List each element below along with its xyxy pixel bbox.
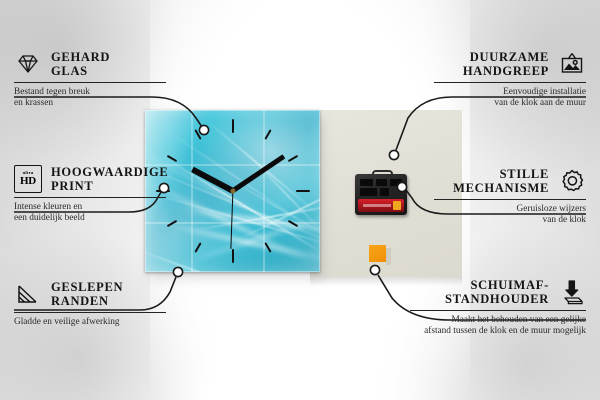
feature-description: Geruisloze wijzers van de klok xyxy=(434,204,586,227)
feature-head: DUURZAME HANDGREEP xyxy=(434,50,586,78)
stamp-down-arrow-icon xyxy=(558,278,586,306)
feature-divider xyxy=(410,310,586,311)
feature-divider xyxy=(14,197,166,198)
ultra-hd-icon: ultra HD xyxy=(14,165,42,193)
leader-dot-stille-mechanisme xyxy=(397,182,406,191)
feature-duurzame-handgreep: DUURZAME HANDGREEP Eenvoudige installati… xyxy=(434,50,586,110)
feature-head: SCHUIMAF- STANDHOUDER xyxy=(410,278,586,306)
feature-hoogwaardige-print: ultra HD HOOGWAARDIGE PRINT Intense kleu… xyxy=(14,165,166,225)
feature-title: DUURZAME HANDGREEP xyxy=(463,50,549,78)
feature-description: Intense kleuren en een duidelijk beeld xyxy=(14,202,166,225)
gear-icon xyxy=(558,167,586,195)
feature-title: STILLE MECHANISME xyxy=(453,167,549,195)
leader-dot-schuimaf-standhouder xyxy=(370,265,379,274)
feature-head: ultra HD HOOGWAARDIGE PRINT xyxy=(14,165,166,193)
feature-schuimaf-standhouder: SCHUIMAF- STANDHOUDER Maakt het behouden… xyxy=(410,278,586,338)
feature-divider xyxy=(434,82,586,83)
diagonal-lines-icon xyxy=(14,280,42,308)
feature-title: SCHUIMAF- STANDHOUDER xyxy=(445,278,549,306)
feature-divider xyxy=(14,82,166,83)
feature-description: Gladde en veilige afwerking xyxy=(14,317,166,328)
picture-frame-icon xyxy=(558,50,586,78)
feature-gehard-glas: GEHARD GLAS Bestand tegen breuk en krass… xyxy=(14,50,166,110)
feature-title: HOOGWAARDIGE PRINT xyxy=(51,165,168,193)
infographic-canvas: GEHARD GLAS Bestand tegen breuk en krass… xyxy=(0,0,600,400)
diamond-icon xyxy=(14,50,42,78)
feature-stille-mechanisme: STILLE MECHANISME Geruisloze wijzers van… xyxy=(434,167,586,227)
feature-title: GESLEPEN RANDEN xyxy=(51,280,123,308)
feature-head: GESLEPEN RANDEN xyxy=(14,280,166,308)
feature-divider xyxy=(14,312,166,313)
feature-description: Eenvoudige installatie van de klok aan d… xyxy=(434,87,586,110)
feature-geslepen-randen: GESLEPEN RANDEN Gladde en veilige afwerk… xyxy=(14,280,166,328)
ultra-hd-icon-main-label: HD xyxy=(20,176,36,187)
feature-divider xyxy=(434,199,586,200)
feature-title: GEHARD GLAS xyxy=(51,50,110,78)
feature-description: Maakt het behouden van een gelijke afsta… xyxy=(410,315,586,338)
feature-head: GEHARD GLAS xyxy=(14,50,166,78)
feature-head: STILLE MECHANISME xyxy=(434,167,586,195)
feature-description: Bestand tegen breuk en krassen xyxy=(14,87,166,110)
leader-dot-duurzame-handgreep xyxy=(389,150,398,159)
leader-dot-gehard-glas xyxy=(199,125,208,134)
leader-dot-geslepen-randen xyxy=(173,267,182,276)
